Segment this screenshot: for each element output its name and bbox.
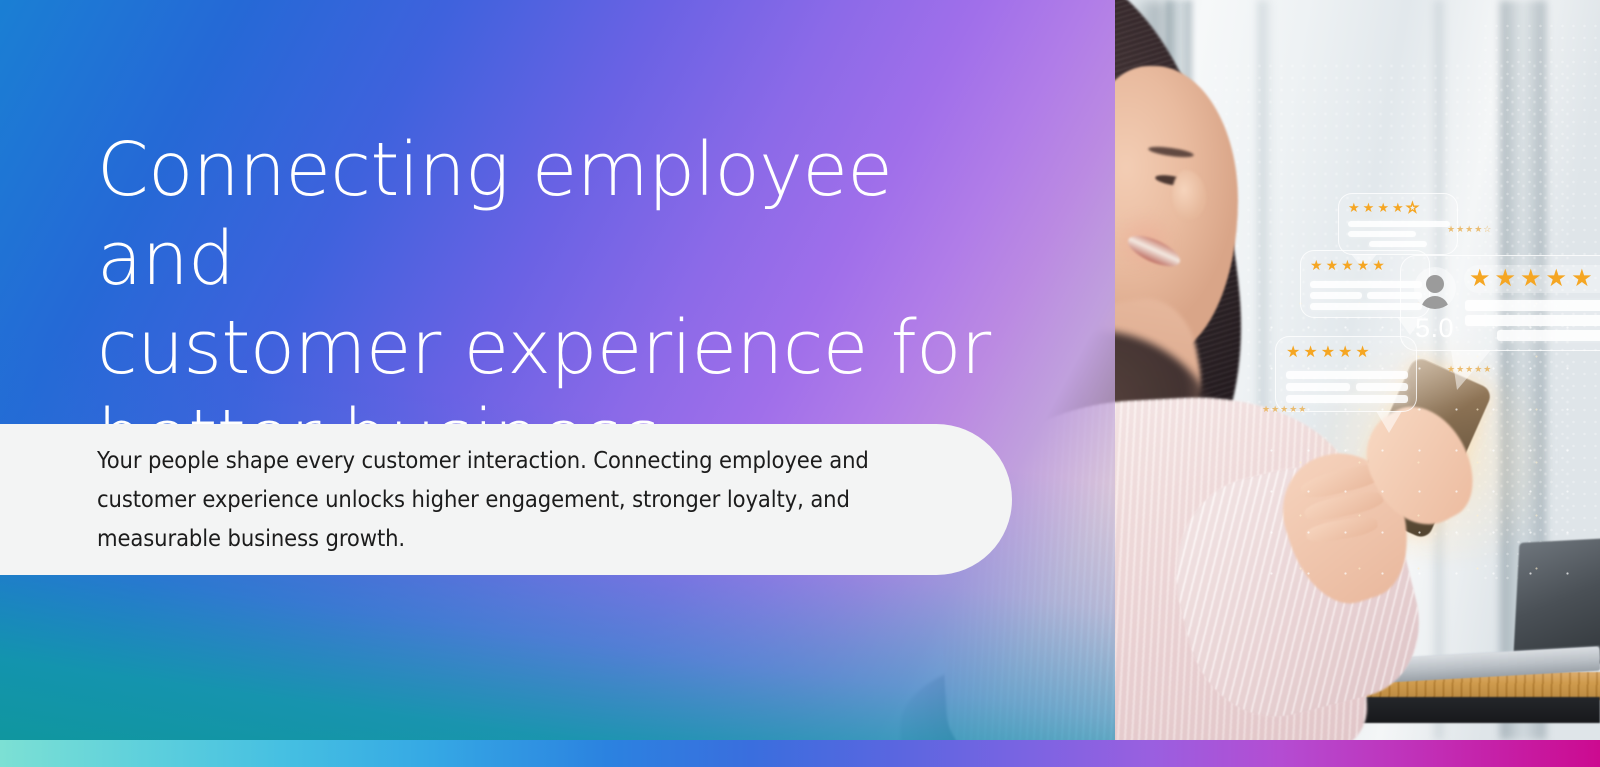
star-icon: ★	[1348, 201, 1360, 214]
star-icon: ★	[1303, 345, 1317, 361]
star-icon: ★	[1377, 201, 1389, 214]
star-icon: ★	[1341, 258, 1354, 272]
rating-stars: ★ ★ ★ ★ ★	[1348, 201, 1418, 214]
rating-stars: ★ ★ ★ ★ ★	[1286, 345, 1370, 361]
main-review-card: 5.0 ★ ★ ★ ★ ★	[1400, 255, 1600, 351]
star-icon: ★	[1338, 345, 1352, 361]
review-text-line	[1497, 330, 1600, 341]
review-text-line	[1348, 221, 1450, 227]
star-icon: ★	[1321, 345, 1335, 361]
mini-rating-top-right: ★★★★☆	[1447, 224, 1492, 235]
star-icon: ★	[1495, 267, 1517, 291]
review-text-line	[1286, 383, 1350, 391]
star-icon: ★	[1286, 345, 1300, 361]
star-outline-icon: ★	[1407, 201, 1419, 214]
headline-line-2: customer experience for	[97, 304, 1027, 393]
review-text-line	[1465, 315, 1600, 326]
review-text-line	[1286, 395, 1408, 403]
star-icon: ★	[1520, 267, 1542, 291]
review-bubble-top: ★ ★ ★ ★ ★	[1338, 193, 1458, 255]
star-icon: ★	[1571, 267, 1593, 291]
rating-value: 5.0	[1415, 313, 1454, 344]
mini-rating-lower-left: ★★★★★	[1262, 404, 1307, 415]
avatar-body-icon	[1421, 296, 1449, 309]
review-text-line	[1356, 383, 1408, 391]
bottom-gradient-bar	[0, 740, 1600, 767]
star-icon: ★	[1392, 201, 1404, 214]
review-text-line	[1310, 292, 1362, 299]
star-icon: ★	[1546, 267, 1568, 291]
description-text: Your people shape every customer interac…	[0, 441, 1012, 558]
star-icon: ★	[1355, 345, 1369, 361]
mini-rating-lower-right: ★★★★★	[1447, 364, 1492, 375]
headline-line-1: Connecting employee and	[97, 126, 1027, 304]
review-text-line	[1465, 300, 1600, 311]
star-icon: ★	[1357, 258, 1370, 272]
star-icon: ★	[1363, 201, 1375, 214]
review-text-line	[1348, 231, 1416, 237]
review-text-line	[1369, 241, 1427, 247]
description-card: Your people shape every customer interac…	[0, 424, 1012, 575]
star-icon: ★	[1326, 258, 1339, 272]
review-text-line	[1286, 371, 1408, 379]
rating-stars: ★ ★ ★ ★ ★	[1310, 258, 1385, 272]
avatar-head-icon	[1426, 275, 1444, 293]
hero-banner: ★ ★ ★ ★ ★ ★ ★ ★ ★ ★	[0, 0, 1600, 767]
star-icon: ★	[1469, 267, 1491, 291]
review-bubble-bottom: ★ ★ ★ ★ ★	[1275, 336, 1417, 412]
avatar	[1414, 267, 1456, 309]
star-icon: ★	[1372, 258, 1385, 272]
bubble-tail	[1376, 411, 1402, 433]
star-icon: ★	[1310, 258, 1323, 272]
rating-stars: ★ ★ ★ ★ ★	[1469, 267, 1593, 291]
